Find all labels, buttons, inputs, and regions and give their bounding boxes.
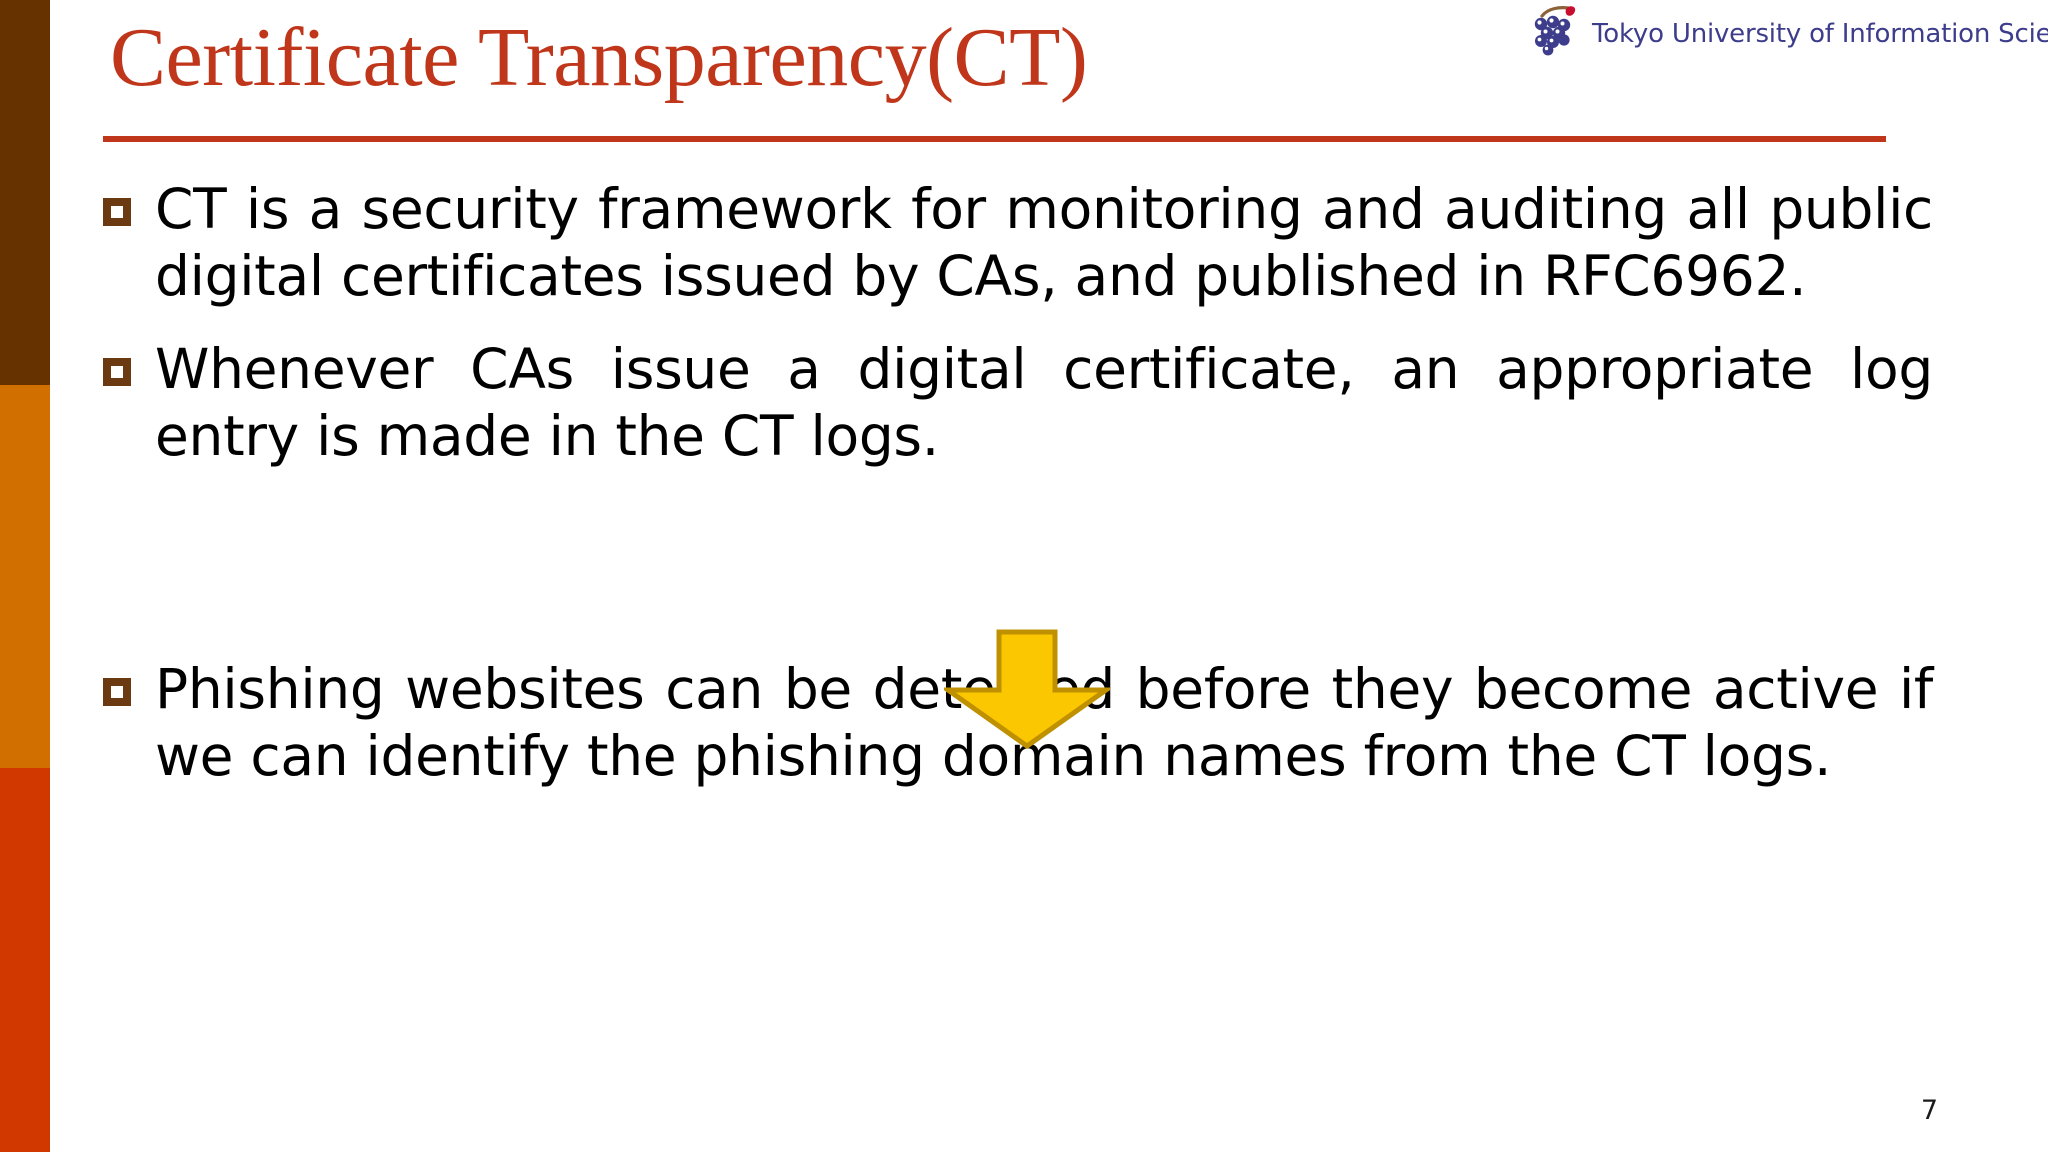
title-underline-rule (103, 136, 1886, 142)
page-number: 7 (1921, 1095, 1938, 1126)
sidebar-band-dark-brown (0, 0, 50, 385)
hollow-square-bullet-icon (103, 198, 131, 226)
sidebar-band-red-orange (0, 768, 50, 1152)
sidebar-stripe (0, 0, 50, 1152)
hollow-square-bullet-icon (103, 358, 131, 386)
bullet-text: CT is a security framework for monitorin… (155, 176, 1933, 310)
logo-text: Tokyo University of Information Sciences (1592, 13, 2048, 47)
grape-cluster-icon (1528, 4, 1584, 56)
page-title: Certificate Transparency(CT) (110, 14, 1087, 102)
slide: Tokyo University of Information Sciences… (0, 0, 2048, 1152)
sidebar-band-orange (0, 385, 50, 768)
down-arrow-icon (944, 628, 1110, 750)
bullet-item: CT is a security framework for monitorin… (103, 176, 1933, 310)
hollow-square-bullet-icon (103, 678, 131, 706)
university-logo: Tokyo University of Information Sciences (1528, 4, 2048, 56)
bullet-item: Whenever CAs issue a digital certificate… (103, 336, 1933, 470)
bullet-text: Whenever CAs issue a digital certificate… (155, 336, 1933, 470)
